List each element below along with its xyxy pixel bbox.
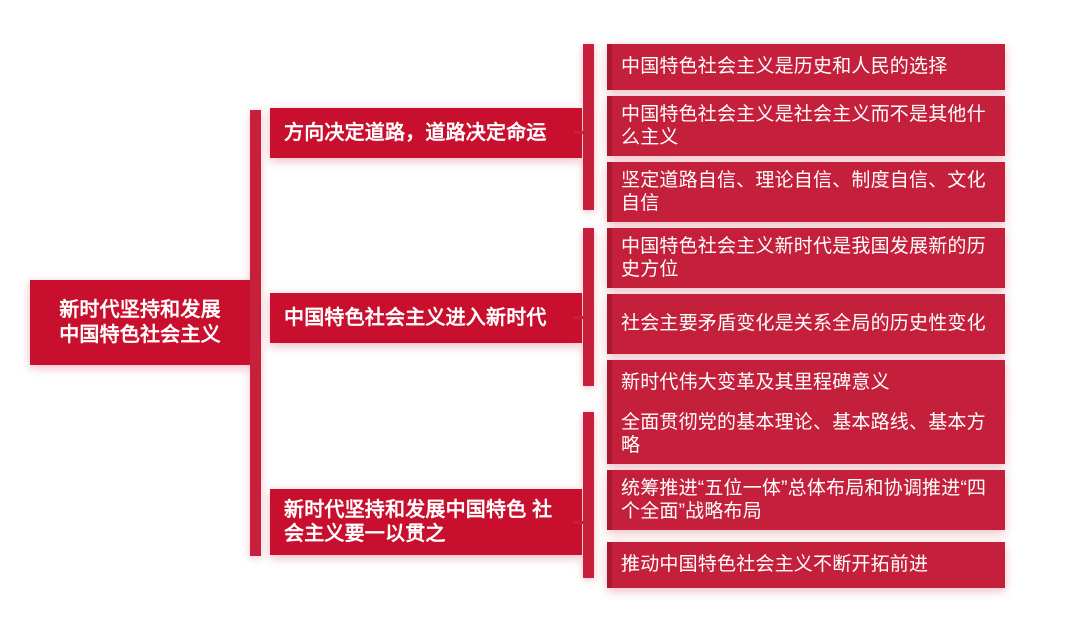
branch-2-bracket-stub bbox=[574, 316, 586, 319]
leaf-node-1-1-label: 中国特色社会主义是历史和人民的选择 bbox=[621, 55, 947, 78]
leaf-node-3-2[interactable]: 统筹推进“五位一体”总体布局和协调推进“四个全面”战略布局 bbox=[607, 470, 1005, 530]
leaf-node-1-3[interactable]: 坚定道路自信、理论自信、制度自信、文化自信 bbox=[607, 162, 1005, 222]
leaf-node-2-1-label: 中国特色社会主义新时代是我国发展新的历史方位 bbox=[621, 235, 995, 281]
branch-node-2-label: 中国特色社会主义进入新时代 bbox=[284, 306, 547, 330]
leaf-node-1-2-label: 中国特色社会主义是社会主义而不是其他什么主义 bbox=[621, 103, 995, 149]
branch-1-bracket-stub bbox=[574, 131, 586, 134]
leaf-node-2-2[interactable]: 社会主要矛盾变化是关系全局的历史性变化 bbox=[607, 294, 1005, 354]
root-node[interactable]: 新时代坚持和发展 中国特色社会主义 bbox=[30, 280, 250, 365]
leaf-node-2-1[interactable]: 中国特色社会主义新时代是我国发展新的历史方位 bbox=[607, 228, 1005, 288]
leaf-node-2-2-label: 社会主要矛盾变化是关系全局的历史性变化 bbox=[621, 312, 986, 335]
branch-2-bracket-bar bbox=[583, 228, 594, 386]
leaf-node-1-1[interactable]: 中国特色社会主义是历史和人民的选择 bbox=[607, 44, 1005, 90]
root-node-line-2: 中国特色社会主义 bbox=[59, 323, 221, 347]
branch-node-3-label-line-1: 新时代坚持和发展中国特色 bbox=[284, 499, 526, 521]
branch-1-bracket-bar bbox=[583, 44, 594, 210]
leaf-node-2-3-label: 新时代伟大变革及其里程碑意义 bbox=[621, 371, 890, 394]
leaf-node-3-3-label: 推动中国特色社会主义不断开拓前进 bbox=[621, 553, 928, 576]
leaf-node-1-2[interactable]: 中国特色社会主义是社会主义而不是其他什么主义 bbox=[607, 96, 1005, 156]
branch-node-1-label: 方向决定道路，道路决定命运 bbox=[284, 121, 547, 145]
branch-3-bracket-stub bbox=[574, 521, 586, 524]
leaf-node-3-2-label: 统筹推进“五位一体”总体布局和协调推进“四个全面”战略布局 bbox=[621, 477, 995, 523]
leaf-node-1-3-label: 坚定道路自信、理论自信、制度自信、文化自信 bbox=[621, 169, 995, 215]
leaf-node-3-1[interactable]: 全面贯彻党的基本理论、基本路线、基本方略 bbox=[607, 404, 1005, 464]
branch-node-1[interactable]: 方向决定道路，道路决定命运 bbox=[270, 108, 582, 158]
leaf-node-3-3[interactable]: 推动中国特色社会主义不断开拓前进 bbox=[607, 542, 1005, 588]
leaf-node-3-1-label: 全面贯彻党的基本理论、基本路线、基本方略 bbox=[621, 411, 995, 457]
branch-3-bracket-bar bbox=[583, 412, 594, 578]
branch-node-3[interactable]: 新时代坚持和发展中国特色 社会主义要一以贯之 bbox=[270, 489, 582, 555]
leaf-node-2-3[interactable]: 新时代伟大变革及其里程碑意义 bbox=[607, 360, 1005, 406]
branch-node-2[interactable]: 中国特色社会主义进入新时代 bbox=[270, 293, 582, 343]
root-node-line-1: 新时代坚持和发展 bbox=[59, 298, 221, 322]
mindmap-canvas: 新时代坚持和发展 中国特色社会主义 方向决定道路，道路决定命运 中国特色社会主义… bbox=[0, 0, 1067, 635]
root-bracket-bar bbox=[250, 110, 261, 556]
